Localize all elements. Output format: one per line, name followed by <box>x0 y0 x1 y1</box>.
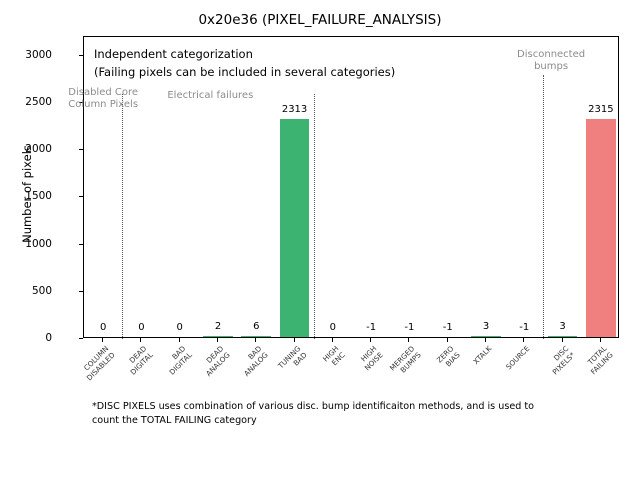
footnote-disc-pixels: *DISC PIXELS uses combination of various… <box>92 400 562 428</box>
x-tick-mark <box>485 338 486 342</box>
x-tick-mark <box>255 338 256 342</box>
y-tick-label: 1500 <box>25 190 52 202</box>
x-tick-mark <box>600 338 601 342</box>
bar-value-label: 3 <box>483 321 489 332</box>
group-divider-line <box>314 94 315 339</box>
x-tick-label-line: XTALK <box>471 344 493 366</box>
bar[interactable] <box>471 336 501 337</box>
group-annotation: Electrical failures <box>167 90 253 102</box>
x-tick-mark <box>179 338 180 342</box>
group-divider-line <box>122 94 123 339</box>
plot-area: Independent categorization (Failing pixe… <box>83 36 619 338</box>
y-tick-label: 3000 <box>25 49 52 61</box>
bar-value-label: 6 <box>253 321 259 332</box>
y-tick-mark <box>79 338 83 339</box>
x-tick-mark <box>408 338 409 342</box>
group-annotation: Disabled CoreColumn Pixels <box>68 87 138 110</box>
bar-value-label: 0 <box>100 322 106 333</box>
group-divider-line <box>543 75 544 339</box>
x-tick-mark <box>447 338 448 342</box>
bar-value-label: -1 <box>366 322 376 333</box>
pixel-failure-analysis-figure: 0x20e36 (PIXEL_FAILURE_ANALYSIS) Number … <box>0 0 640 480</box>
bar-value-label: -1 <box>443 322 453 333</box>
y-tick-label: 0 <box>45 332 52 344</box>
y-tick-label: 1000 <box>25 238 52 250</box>
bar-value-label: 3 <box>559 321 565 332</box>
x-tick-mark <box>562 338 563 342</box>
bar[interactable] <box>280 119 310 337</box>
bar-value-label: 2313 <box>282 104 307 115</box>
bar-value-label: 0 <box>138 322 144 333</box>
x-tick-mark <box>523 338 524 342</box>
x-tick-mark <box>294 338 295 342</box>
x-tick-mark <box>140 338 141 342</box>
group-annotation-line: Disabled Core <box>68 87 138 98</box>
group-annotation-line: Disconnected <box>517 49 585 60</box>
bars-layer: 0002623130-1-1-13-132315Disabled CoreCol… <box>84 37 618 337</box>
bar-value-label: 2 <box>215 321 221 332</box>
y-tick-label: 2500 <box>25 96 52 108</box>
bar[interactable] <box>203 336 233 337</box>
bar[interactable] <box>241 336 271 337</box>
bar[interactable] <box>548 336 578 337</box>
x-tick-label-line: SOURCE <box>504 344 531 371</box>
group-annotation-line: bumps <box>534 61 568 72</box>
y-tick-label: 500 <box>32 285 52 297</box>
x-tick-mark <box>217 338 218 342</box>
group-annotation-line: Column Pixels <box>68 99 138 110</box>
x-tick-mark <box>332 338 333 342</box>
x-tick-mark <box>102 338 103 342</box>
group-annotation-line: Electrical failures <box>167 90 253 101</box>
group-annotation: Disconnectedbumps <box>517 49 585 72</box>
bar-value-label: 2315 <box>588 104 613 115</box>
bar[interactable] <box>586 119 616 337</box>
chart-title: 0x20e36 (PIXEL_FAILURE_ANALYSIS) <box>0 12 640 28</box>
bar-value-label: 0 <box>177 322 183 333</box>
bar-value-label: 0 <box>330 322 336 333</box>
bar-value-label: -1 <box>519 322 529 333</box>
x-tick-mark <box>370 338 371 342</box>
y-tick-label: 2000 <box>25 143 52 155</box>
bar-value-label: -1 <box>404 322 414 333</box>
